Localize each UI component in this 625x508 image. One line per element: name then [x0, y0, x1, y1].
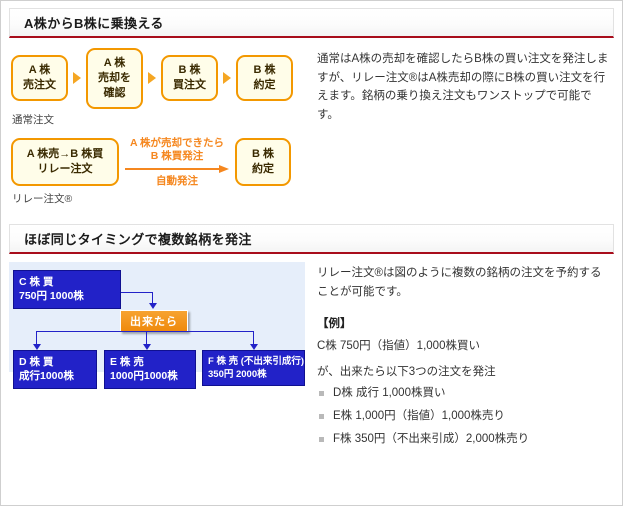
connector-down-d — [36, 331, 37, 345]
list-item: E株 1,000円（指値）1,000株売り — [317, 408, 612, 426]
section2-description: リレー注文®は図のように複数の銘柄の注文を予約することが可能です。 — [317, 264, 612, 301]
child-line1: D 株 買 — [19, 356, 53, 368]
section1-diagrams: A 株 売注文 A 株 売却を 確認 B 株 買注文 — [1, 38, 313, 206]
step-line2: 売注文 — [23, 79, 56, 91]
relay-arrow-icon — [125, 165, 229, 173]
section2-diagram-column: C 株 買 750円 1000株 出来たら — [1, 254, 313, 372]
step-line1: A 株 — [104, 57, 126, 69]
relay-arrow-block: A 株が売却できたら B 株買発注 自動発注 — [121, 137, 233, 188]
page-root: A株からB株に乗換える A 株 売注文 A 株 売却を 確認 — [0, 0, 623, 506]
section2-description-column: リレー注文®は図のように複数の銘柄の注文を予約することが可能です。 【例】 C株… — [313, 254, 622, 453]
list-item: D株 成行 1,000株買い — [317, 385, 612, 403]
section1-description-column: 通常はA株の売却を確認したらB株の買い注文を発注しますが、リレー注文®はA株売却… — [313, 38, 622, 125]
diagram-parent-box-c: C 株 買 750円 1000株 — [13, 270, 121, 309]
section1-description: 通常はA株の売却を確認したらB株の買い注文を発注しますが、リレー注文®はA株売却… — [317, 50, 612, 125]
section-title-2: ほぼ同じタイミングで複数銘柄を発注 — [10, 229, 252, 248]
step-line1: B 株 — [179, 64, 201, 76]
arrow-triangle-icon — [148, 72, 156, 84]
section1-body: A 株 売注文 A 株 売却を 確認 B 株 買注文 — [1, 38, 622, 206]
multi-order-diagram: C 株 買 750円 1000株 出来たら — [9, 262, 305, 372]
child-line1: F 株 売 (不出来引成行) — [208, 356, 304, 367]
relay-line1: A 株売→B 株買 — [27, 148, 104, 160]
section-header-2: ほぼ同じタイミングで複数銘柄を発注 — [9, 224, 614, 254]
section2-body: C 株 買 750円 1000株 出来たら — [1, 254, 622, 453]
arrow-triangle-icon — [223, 72, 231, 84]
condition-badge: 出来たら — [120, 310, 188, 332]
section-header-1: A株からB株に乗換える — [9, 8, 614, 38]
normal-flow-row: A 株 売注文 A 株 売却を 確認 B 株 買注文 — [11, 48, 313, 109]
relay-flow-row: A 株売→B 株買 リレー注文 A 株が売却できたら B 株買発注 自動発注 B… — [11, 137, 313, 188]
flow-step-b-executed: B 株 約定 — [236, 55, 293, 101]
flow-step-b-buy-order: B 株 買注文 — [161, 55, 218, 101]
target-line2: 約定 — [252, 163, 274, 175]
connector-parent-right — [121, 292, 153, 293]
target-line1: B 株 — [252, 148, 274, 160]
child-line1: E 株 売 — [110, 356, 144, 368]
connector-down-e — [146, 331, 147, 345]
relay-order-box: A 株売→B 株買 リレー注文 — [11, 138, 119, 186]
flow-step-a-sell-order: A 株 売注文 — [11, 55, 68, 101]
diagram-child-box-e: E 株 売 1000円1000株 — [104, 350, 196, 389]
parent-line2: 750円 1000株 — [19, 289, 115, 303]
relay-flow-caption: リレー注文® — [12, 191, 313, 206]
diagram-child-box-d: D 株 買 成行1000株 — [13, 350, 97, 389]
relay-arrow-bottom-label: 自動発注 — [156, 175, 198, 188]
child-line2: 成行1000株 — [19, 369, 91, 383]
step-line1: B 株 — [254, 64, 276, 76]
relay-arrow-top-label-1: A 株が売却できたら — [130, 137, 224, 150]
example-order-list: D株 成行 1,000株買い E株 1,000円（指値）1,000株売り F株 … — [317, 385, 612, 448]
child-line2: 1000円1000株 — [110, 369, 190, 383]
list-item: F株 350円（不出来引成）2,000株売り — [317, 431, 612, 449]
relay-target-box: B 株 約定 — [235, 138, 291, 186]
step-line2: 約定 — [254, 79, 276, 91]
example-heading: 【例】 — [317, 315, 612, 331]
connector-down-f — [253, 331, 254, 345]
arrow-triangle-icon — [73, 72, 81, 84]
parent-line1: C 株 買 — [19, 276, 53, 288]
child-line2: 350円 2000株 — [208, 368, 299, 381]
normal-order-flow: A 株 売注文 A 株 売却を 確認 B 株 買注文 — [1, 38, 313, 206]
example-connector-text: が、出来たら以下3つの注文を発注 — [317, 363, 612, 381]
connector-parent-arrowhead-icon — [149, 303, 157, 309]
step-line2: 買注文 — [173, 79, 206, 91]
step-line1: A 株 — [29, 64, 51, 76]
section-title-1: A株からB株に乗換える — [10, 13, 164, 32]
relay-line2: リレー注文 — [38, 163, 93, 175]
example-parent-order: C株 750円（指値）1,000株買い — [317, 337, 612, 355]
step-line2: 売却を — [98, 72, 131, 84]
normal-flow-caption: 通常注文 — [12, 112, 313, 127]
connector-horizontal-bus — [36, 331, 254, 332]
diagram-child-box-f: F 株 売 (不出来引成行) 350円 2000株 — [202, 350, 305, 386]
relay-arrow-top-label-2: B 株買発注 — [151, 150, 204, 163]
flow-step-a-sell-confirm: A 株 売却を 確認 — [86, 48, 143, 109]
step-line3: 確認 — [104, 87, 126, 99]
